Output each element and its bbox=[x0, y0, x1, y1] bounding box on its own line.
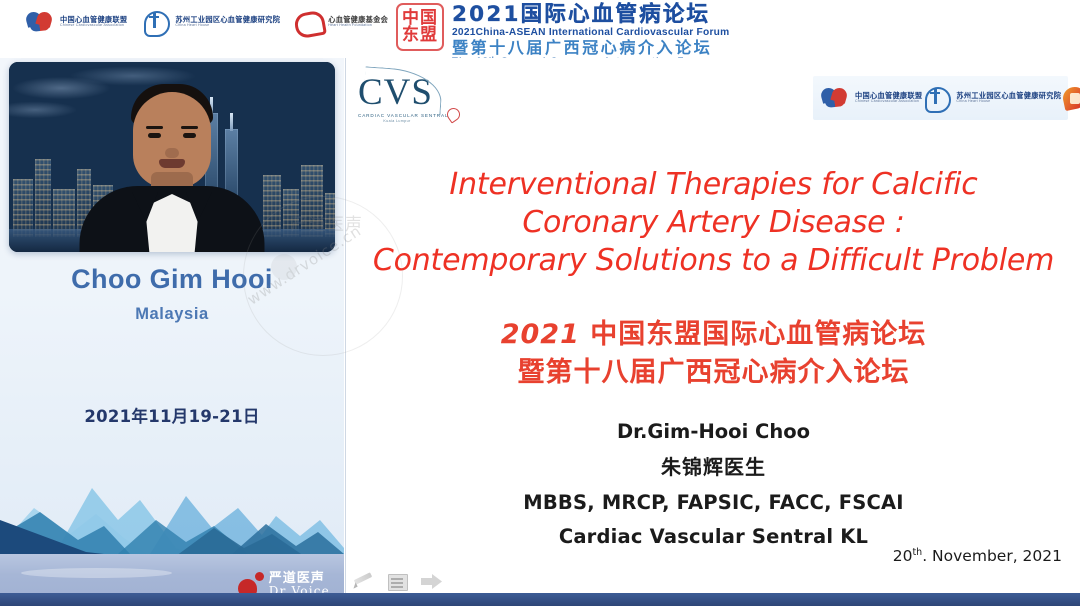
presentation-slide[interactable]: CVS CARDIAC VASCULAR SENTRAL Kuala Lumpu… bbox=[345, 58, 1080, 593]
speaker-country: Malaysia bbox=[0, 305, 344, 324]
partner-logo-orange-heart bbox=[1061, 85, 1080, 111]
slide-date-day: 20 bbox=[893, 547, 913, 565]
slide-partner-logo-strip: 中国心血管健康联盟 Chinese Cardiovascular Associa… bbox=[813, 76, 1068, 120]
speaker-portrait bbox=[77, 92, 267, 252]
presenter-name-en: Dr.Gim-Hooi Choo bbox=[350, 420, 1077, 443]
heart-caduceus-icon bbox=[922, 85, 952, 111]
slide-title-line-1: Interventional Therapies for Calcific bbox=[350, 166, 1077, 204]
association-logo-group: 中国心血管健康联盟 Chinese Cardiovascular Associa… bbox=[26, 9, 432, 35]
cvs-logo: CVS CARDIAC VASCULAR SENTRAL Kuala Lumpu… bbox=[354, 74, 454, 123]
next-arrow-icon[interactable] bbox=[420, 572, 442, 592]
cvs-subtitle: CARDIAC VASCULAR SENTRAL bbox=[354, 113, 454, 118]
assoc-logo-foundation: 心血管健康基金会 Heart Health Foundation bbox=[294, 9, 388, 35]
drvoice-label-cn: 严道医声 bbox=[269, 572, 330, 586]
speaker-video-feed[interactable] bbox=[9, 62, 335, 252]
slide-title-line-2: Coronary Artery Disease : bbox=[350, 204, 1077, 242]
slide-title-line-3: Contemporary Solutions to a Difficult Pr… bbox=[350, 242, 1077, 280]
partner-logo-china-heart-house: 苏州工业园区心血管健康研究院 China Heart House bbox=[922, 85, 1061, 111]
presenter-controls bbox=[352, 572, 442, 592]
forum-title-en: 2021China-ASEAN International Cardiovasc… bbox=[452, 28, 729, 38]
partner-label-en: China Heart House bbox=[956, 100, 1061, 104]
speaker-name: Choo Gim Hooi bbox=[0, 264, 344, 295]
cvs-subtitle-2: Kuala Lumpur bbox=[354, 119, 440, 123]
heart-handshake-icon bbox=[821, 85, 851, 111]
assoc-logo-cca: 中国心血管健康联盟 Chinese Cardiovascular Associa… bbox=[26, 9, 127, 35]
slide-date: 20th. November, 2021 bbox=[893, 547, 1062, 565]
event-date: 2021年11月19-21日 bbox=[0, 403, 344, 427]
slide-subtitle-line-1: 中国东盟国际心血管病论坛 bbox=[580, 319, 926, 350]
assoc-label-en: Chinese Cardiovascular Association bbox=[60, 24, 127, 28]
orange-heart-icon bbox=[1061, 85, 1080, 111]
presenter-block: Dr.Gim-Hooi Choo 朱锦辉医生 MBBS, MRCP, FAPSI… bbox=[350, 420, 1077, 548]
bottom-bar bbox=[0, 593, 1080, 606]
slide-icon[interactable] bbox=[386, 572, 408, 592]
forum-subtitle-cn: 暨第十八届广西冠心病介入论坛 bbox=[452, 40, 729, 56]
presenter-affiliation: Cardiac Vascular Sentral KL bbox=[350, 525, 1077, 548]
pen-icon[interactable] bbox=[352, 572, 374, 592]
assoc-logo-china-heart-house: 苏州工业园区心血管健康研究院 China Heart House bbox=[141, 9, 280, 35]
assoc-label-en: China Heart House bbox=[175, 24, 280, 28]
presenter-name-cn: 朱锦辉医生 bbox=[350, 451, 1077, 480]
forum-title-cn: 2021国际心血管病论坛 bbox=[452, 4, 729, 26]
heart-handshake-icon bbox=[26, 9, 56, 35]
cvs-wordmark: CVS bbox=[354, 74, 454, 111]
china-asean-badge: 中国 东盟 bbox=[396, 3, 444, 51]
badge-line-2: 东盟 bbox=[402, 27, 438, 44]
slide-subtitle-line-2: 暨第十八届广西冠心病介入论坛 bbox=[350, 354, 1077, 392]
slide-date-rest: . November, 2021 bbox=[922, 547, 1062, 565]
partner-logo-cca: 中国心血管健康联盟 Chinese Cardiovascular Associa… bbox=[821, 85, 922, 111]
red-heart-icon bbox=[294, 9, 324, 35]
top-header-bar: 中国心血管健康联盟 Chinese Cardiovascular Associa… bbox=[0, 0, 1080, 58]
speaker-panel: Choo Gim Hooi Malaysia 2021年11月19-21日 严道… bbox=[0, 58, 344, 606]
assoc-label-en: Heart Health Foundation bbox=[328, 24, 388, 28]
broadcast-screen: 中国心血管健康联盟 Chinese Cardiovascular Associa… bbox=[0, 0, 1080, 606]
slide-subtitle-year: 2021 bbox=[501, 319, 580, 350]
slide-date-ordinal: th bbox=[912, 547, 922, 558]
slide-title: Interventional Therapies for Calcific Co… bbox=[350, 166, 1077, 279]
heart-caduceus-icon bbox=[141, 9, 171, 35]
slide-subtitle: 2021 中国东盟国际心血管病论坛 暨第十八届广西冠心病介入论坛 bbox=[350, 316, 1077, 393]
presenter-credentials: MBBS, MRCP, FAPSIC, FACC, FSCAI bbox=[350, 491, 1077, 514]
partner-label-en: Chinese Cardiovascular Association bbox=[855, 100, 922, 104]
